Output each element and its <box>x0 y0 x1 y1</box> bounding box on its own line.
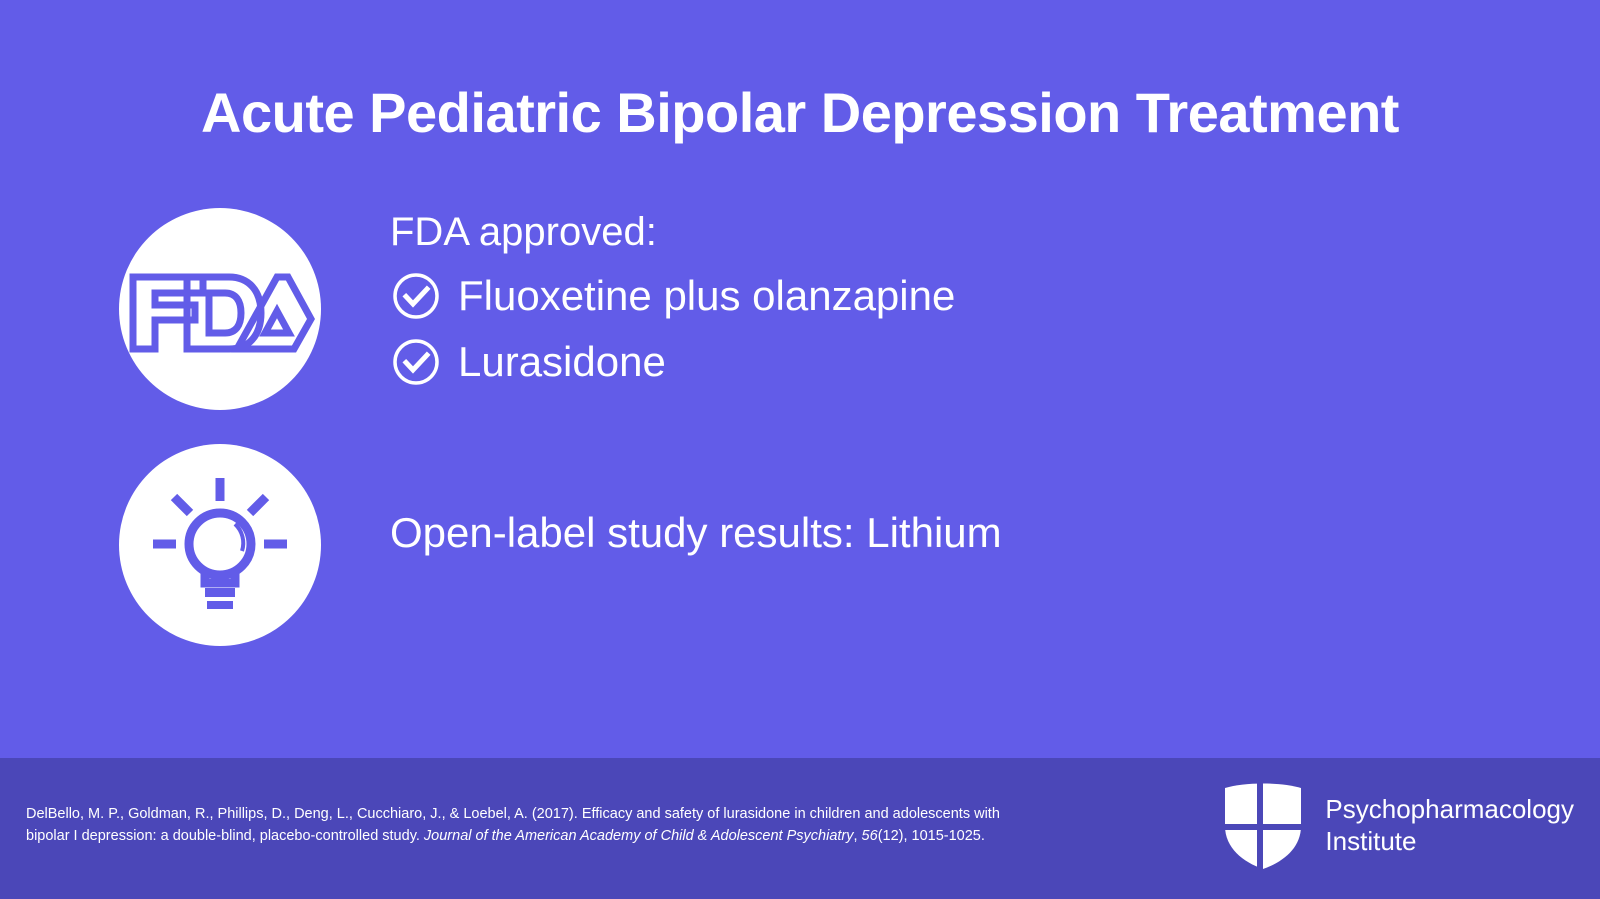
lightbulb-icon <box>145 468 295 623</box>
page-title: Acute Pediatric Bipolar Depression Treat… <box>0 82 1600 144</box>
fda-logo-badge <box>119 208 321 410</box>
fda-approved-heading: FDA approved: <box>390 206 1510 258</box>
list-item-label: Fluoxetine plus olanzapine <box>458 274 955 318</box>
psychopharmacology-institute-shield-logo <box>1223 782 1303 870</box>
citation-issue-pages: (12), 1015-1025. <box>878 828 985 844</box>
slide-canvas: Acute Pediatric Bipolar Depression Treat… <box>0 0 1600 899</box>
brand-line-2: Institute <box>1325 826 1416 856</box>
citation-sep: , <box>853 828 861 844</box>
check-circle-icon <box>390 336 442 388</box>
idea-badge <box>119 444 321 646</box>
brand-line-1: Psychopharmacology <box>1325 794 1574 824</box>
citation-reference: DelBello, M. P., Goldman, R., Phillips, … <box>26 804 1046 848</box>
brand-lockup: Psychopharmacology Institute <box>1223 782 1574 870</box>
footer-bar: DelBello, M. P., Goldman, R., Phillips, … <box>0 758 1600 899</box>
list-item: Lurasidone <box>390 336 1510 388</box>
citation-journal: Journal of the American Academy of Child… <box>424 828 854 844</box>
approved-drug-list: Fluoxetine plus olanzapine Lurasidone <box>390 270 1510 388</box>
check-circle-icon <box>390 270 442 322</box>
citation-volume: 56 <box>862 828 878 844</box>
brand-name: Psychopharmacology Institute <box>1325 794 1574 857</box>
list-item-label: Lurasidone <box>458 340 666 384</box>
fda-logo-icon <box>125 257 315 362</box>
list-item: Fluoxetine plus olanzapine <box>390 270 1510 322</box>
open-label-study-text: Open-label study results: Lithium <box>390 508 1002 558</box>
fda-approved-section: FDA approved: Fluoxetine plus olanzapine <box>390 206 1510 402</box>
